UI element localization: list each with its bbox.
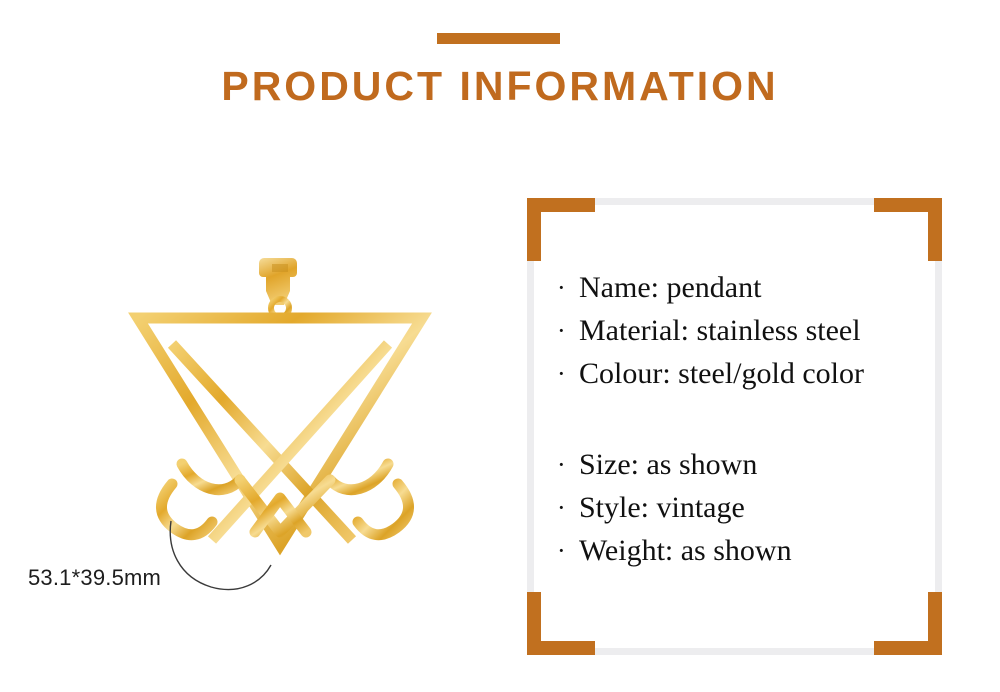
list-item: · Name: pendant <box>555 266 922 309</box>
list-item: · Size: as shown <box>555 443 922 486</box>
bullet-icon: · <box>557 352 566 395</box>
list-item: · Material: stainless steel <box>555 309 922 352</box>
page-title: PRODUCT INFORMATION <box>0 60 1000 112</box>
spec-text: Material: stainless steel <box>579 314 861 347</box>
bullet-icon: · <box>557 309 566 352</box>
spec-group-primary: · Name: pendant · Material: stainless st… <box>555 266 922 395</box>
corner-bracket-bottom-right <box>874 592 942 655</box>
product-information-page: PRODUCT INFORMATION <box>0 0 1000 692</box>
corner-bracket-top-left <box>527 198 595 261</box>
pendant-sigil <box>138 318 422 545</box>
spec-list: · Name: pendant · Material: stainless st… <box>555 266 922 572</box>
spec-text: Weight: as shown <box>579 534 792 567</box>
info-panel: · Name: pendant · Material: stainless st… <box>527 198 942 655</box>
corner-bracket-top-right <box>874 198 942 261</box>
spec-text: Size: as shown <box>579 448 757 481</box>
bullet-icon: · <box>557 529 566 572</box>
bullet-icon: · <box>557 486 566 529</box>
size-leader-line <box>165 515 285 605</box>
list-item: · Style: vintage <box>555 486 922 529</box>
pendant-bail <box>259 258 297 317</box>
bullet-icon: · <box>557 443 566 486</box>
list-item: · Weight: as shown <box>555 529 922 572</box>
size-label: 53.1*39.5mm <box>28 565 161 591</box>
spec-text: Style: vintage <box>579 491 745 524</box>
list-item: · Colour: steel/gold color <box>555 352 922 395</box>
title-accent-bar <box>437 33 560 44</box>
spec-text: Colour: steel/gold color <box>579 357 864 390</box>
spec-text: Name: pendant <box>579 271 761 304</box>
corner-bracket-bottom-left <box>527 592 595 655</box>
spec-group-secondary: · Size: as shown · Style: vintage · Weig… <box>555 443 922 572</box>
bullet-icon: · <box>557 266 566 309</box>
